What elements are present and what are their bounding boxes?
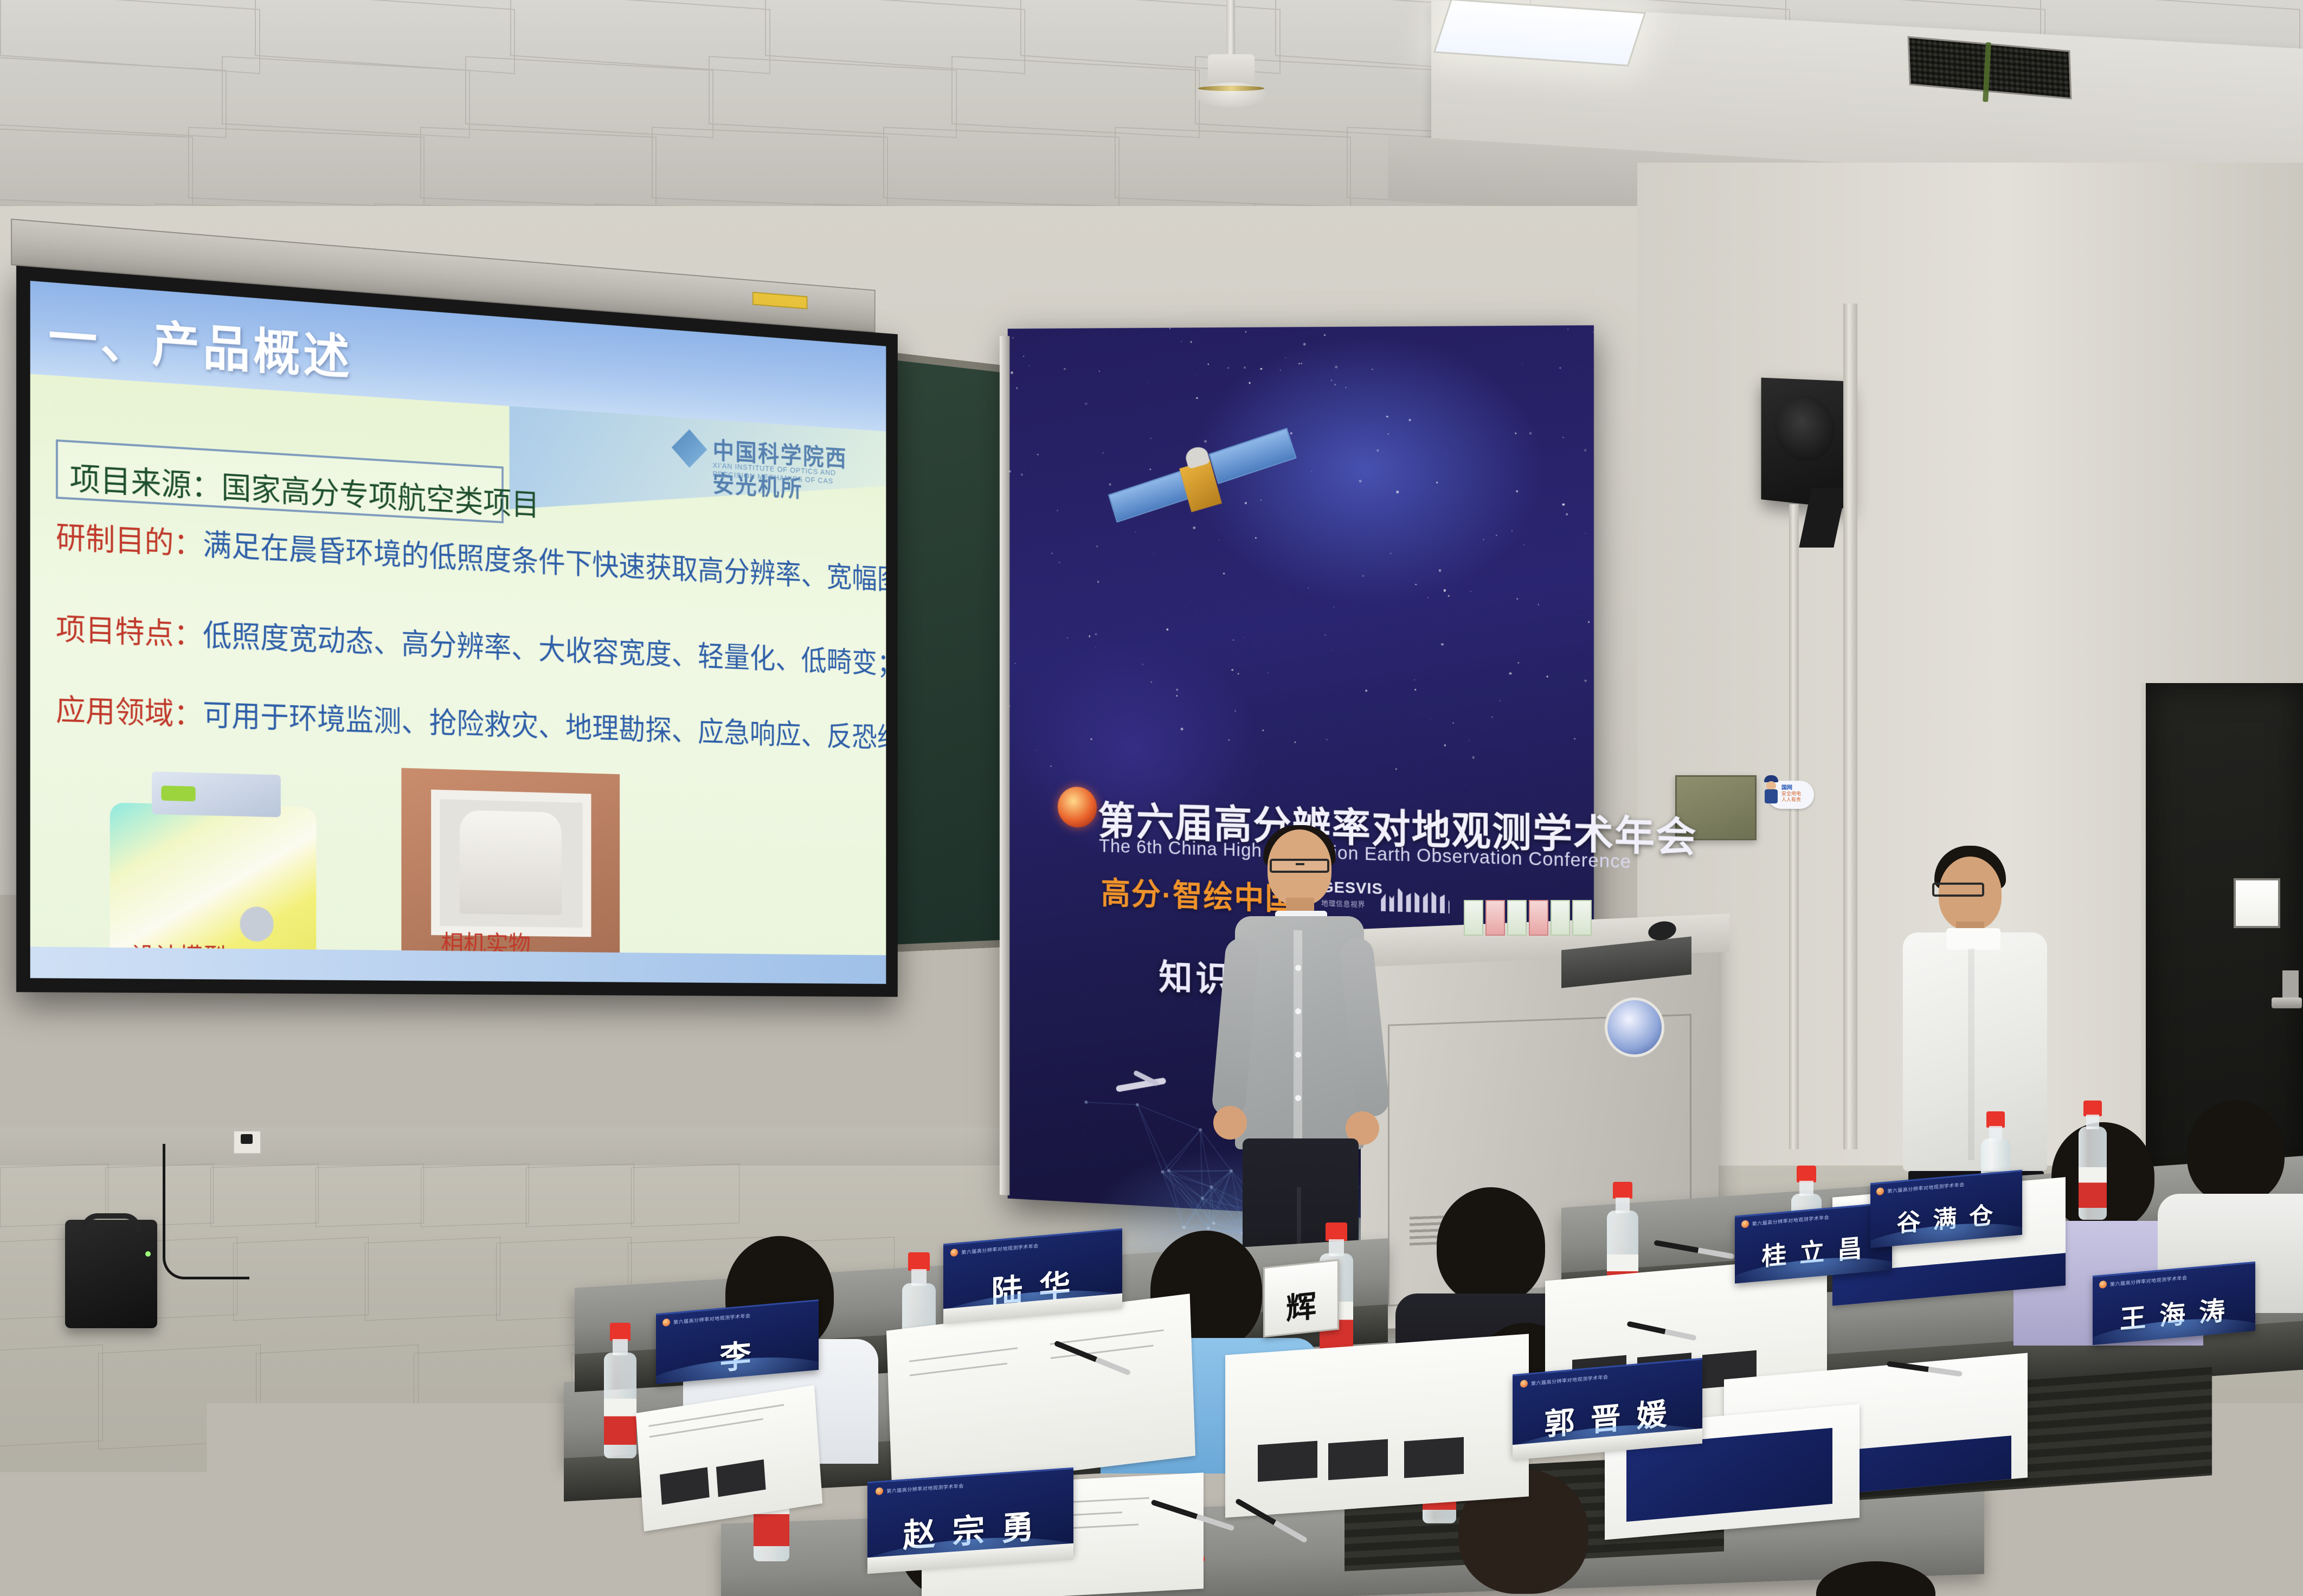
floor-tile — [421, 1164, 529, 1227]
carton — [1507, 900, 1527, 936]
name-placard: 第六届高分辨率对地观测学术年会 桂 立 昌 — [1735, 1202, 1892, 1283]
ceiling-tile — [883, 127, 1120, 208]
star — [1057, 510, 1058, 511]
star — [1195, 374, 1195, 375]
water-bottle — [2076, 1101, 2109, 1220]
podium-emblem-icon — [1605, 998, 1664, 1057]
star — [1324, 634, 1326, 636]
source-label: 项目来源： — [69, 461, 221, 505]
paper-name-card: 辉 — [1263, 1259, 1339, 1338]
star — [1245, 331, 1247, 333]
emblem-icon — [1741, 1220, 1749, 1228]
star — [1397, 491, 1399, 493]
star — [1362, 575, 1365, 577]
star — [1359, 480, 1362, 482]
star — [1559, 367, 1561, 369]
placard-header-text: 第六届高分辨率对地观测学术年会 — [1531, 1373, 1609, 1387]
star — [1588, 621, 1590, 623]
star — [1142, 664, 1143, 665]
bullet-2-label: 项目特点： — [56, 612, 203, 652]
bottle-label — [604, 1399, 636, 1445]
star — [1574, 738, 1575, 739]
power-cable — [163, 1144, 249, 1279]
star — [1050, 765, 1052, 767]
placard-header-text: 第六届高分辨率对地观测学术年会 — [2110, 1273, 2188, 1287]
star — [1465, 784, 1466, 785]
floor-tile — [233, 1237, 369, 1321]
floor-tile — [279, 1487, 468, 1596]
ceiling-tile — [420, 127, 657, 208]
bullet-1-label: 研制目的： — [56, 520, 203, 561]
star — [1413, 679, 1415, 681]
shirt-button — [1295, 1095, 1301, 1101]
skyline-icon — [1381, 882, 1449, 913]
star — [1386, 416, 1388, 417]
star — [1308, 587, 1309, 588]
suit-icon — [1765, 789, 1778, 803]
water-bottle — [602, 1323, 639, 1458]
star — [1311, 471, 1312, 472]
fan-motor — [1208, 54, 1255, 87]
star — [1184, 607, 1185, 607]
bullet-3-label: 应用领域： — [56, 693, 203, 731]
power-led-icon — [145, 1251, 151, 1257]
star — [1517, 662, 1519, 664]
attendee-head — [1816, 1561, 1935, 1596]
star — [1562, 437, 1564, 438]
star — [1095, 647, 1096, 647]
projection-screen: 一、产品概述 中国科学院西安光机所 XI'AN INSTITUTE OF OPT… — [16, 266, 898, 1016]
star — [1064, 368, 1065, 370]
floor-tile — [316, 1164, 424, 1227]
ceiling-tile — [951, 56, 1200, 138]
ceiling-fan-icon — [1182, 0, 1279, 114]
star — [1567, 329, 1568, 330]
star — [1249, 382, 1251, 384]
camera-frame — [431, 789, 591, 937]
star — [1211, 432, 1211, 433]
star — [1469, 741, 1469, 742]
star — [1223, 573, 1225, 575]
presenter-hand-left — [1213, 1106, 1247, 1140]
ceiling-tile — [709, 56, 957, 138]
star — [1390, 552, 1392, 554]
star — [1335, 366, 1337, 368]
star — [1233, 639, 1234, 640]
star — [1430, 719, 1431, 720]
star — [1585, 680, 1587, 682]
star — [1150, 681, 1152, 683]
star — [1439, 569, 1441, 571]
star — [1415, 584, 1416, 585]
star — [1238, 673, 1239, 674]
glasses-icon — [1932, 883, 1984, 897]
bottle-cap — [1797, 1166, 1816, 1182]
star — [1444, 744, 1445, 746]
plug-icon — [241, 1134, 253, 1144]
star — [1228, 739, 1230, 741]
floor-tile — [98, 1344, 261, 1450]
name-placard: 第六届高分辨率对地观测学术年会 谷 满 仓 — [1870, 1170, 2022, 1248]
ceiling-tile — [222, 56, 470, 138]
star — [1167, 628, 1169, 630]
star — [1103, 453, 1103, 454]
star — [1436, 482, 1438, 484]
star — [1324, 334, 1326, 336]
star — [1326, 739, 1328, 741]
emblem-icon — [1520, 1380, 1528, 1388]
star — [1395, 768, 1397, 770]
carton — [1551, 900, 1570, 936]
star — [1303, 343, 1306, 346]
star — [1268, 672, 1268, 673]
banner-starfield — [1008, 325, 1594, 813]
star — [1427, 597, 1428, 598]
floor-tile — [256, 1344, 419, 1450]
star — [1009, 470, 1011, 473]
bottle-cap — [1613, 1182, 1633, 1199]
name-placard: 第六届高分辨率对地观测学术年会 王 海 涛 — [2093, 1262, 2255, 1345]
star — [1244, 366, 1246, 369]
handout-paper — [1225, 1334, 1529, 1517]
star — [1509, 672, 1512, 675]
glasses-bridge — [1296, 863, 1304, 865]
slide-figure-camera-photo — [401, 768, 620, 953]
drink-cartons — [1464, 900, 1605, 938]
star — [1227, 367, 1229, 369]
star — [1453, 723, 1454, 724]
star — [1285, 357, 1286, 358]
logo-mark-icon — [672, 428, 707, 469]
star — [1472, 756, 1475, 759]
star — [1515, 432, 1517, 434]
star — [1584, 449, 1587, 452]
presentation-slide: 一、产品概述 中国科学院西安光机所 XI'AN INSTITUTE OF OPT… — [30, 281, 886, 984]
solar-panel-right — [1208, 428, 1296, 484]
wall-pipe — [1843, 304, 1857, 1149]
placard-header-text: 第六届高分辨率对地观测学术年会 — [673, 1311, 751, 1325]
speaker-cone — [1774, 394, 1835, 464]
star — [1232, 669, 1233, 671]
attendee-head — [1437, 1187, 1545, 1304]
bottle-label — [2079, 1167, 2107, 1208]
sticker-line-2: 人人有责 — [1781, 796, 1801, 803]
safety-sticker: 国网 安全用电 人人有责 — [1762, 775, 1814, 813]
star — [1059, 562, 1060, 563]
screen-frame: 一、产品概述 中国科学院西安光机所 XI'AN INSTITUTE OF OPT… — [16, 266, 898, 997]
ceiling-tile — [652, 127, 888, 208]
star — [1529, 432, 1532, 435]
floor-tile — [95, 1487, 285, 1596]
fan-rod — [1226, 0, 1235, 60]
star — [1262, 763, 1263, 763]
star — [1099, 371, 1099, 371]
floor-tile — [526, 1164, 634, 1227]
fan-trim — [1198, 86, 1264, 91]
star — [1196, 397, 1198, 399]
placard-header-text: 第六届高分辨率对地观测学术年会 — [961, 1242, 1039, 1256]
shirt-button — [1295, 1008, 1301, 1014]
star — [1334, 383, 1336, 385]
paper-name-card-text: 辉 — [1265, 1279, 1337, 1331]
bottle-cap — [1986, 1111, 2005, 1128]
shirt-placket — [1294, 930, 1302, 1142]
floor-tile — [631, 1164, 739, 1227]
star — [1096, 546, 1098, 548]
emblem-icon — [2099, 1280, 2107, 1288]
star — [1483, 539, 1484, 540]
star — [1147, 383, 1148, 384]
star — [1448, 595, 1450, 597]
star — [1585, 533, 1586, 534]
star — [1089, 395, 1090, 395]
star — [1037, 454, 1039, 455]
star — [1016, 387, 1018, 389]
conference-room-photo: 国网 安全用电 人人有责 一、产品概述 中国科学院西安光机所 — [0, 0, 2303, 1596]
star — [1522, 364, 1522, 365]
emblem-icon — [662, 1318, 670, 1326]
carton — [1529, 900, 1548, 936]
star — [1260, 368, 1262, 370]
star — [1334, 607, 1335, 608]
star — [1176, 689, 1178, 691]
name-placard: 第六届高分辨率对地观测学术年会 李 — [656, 1299, 819, 1384]
satellite-icon — [1110, 436, 1295, 558]
star — [1176, 695, 1178, 697]
sticker-figure-icon — [1762, 775, 1780, 808]
seated-attendee — [1805, 1561, 1957, 1596]
star — [1409, 419, 1411, 421]
emblem-icon — [876, 1488, 883, 1496]
floor-tile — [463, 1487, 653, 1596]
star — [1516, 490, 1519, 492]
star — [1128, 689, 1129, 690]
model-body — [110, 802, 317, 955]
bottle-cap — [610, 1323, 631, 1341]
floor-tile — [0, 1487, 100, 1596]
ceiling-tile — [0, 127, 193, 208]
attendee-shirt — [1903, 932, 2047, 1171]
attendee-head — [2187, 1101, 2285, 1204]
star — [1095, 633, 1097, 635]
star — [1181, 728, 1183, 731]
star — [1234, 710, 1236, 712]
bottle-cap — [908, 1252, 929, 1271]
ceiling-tile — [465, 56, 713, 138]
star — [1089, 635, 1090, 637]
slide-figure-design-model — [110, 770, 332, 955]
conference-emblem-icon — [1058, 786, 1097, 828]
model-lens-icon — [240, 906, 273, 942]
placard-header-text: 第六届高分辨率对地观测学术年会 — [1887, 1181, 1965, 1194]
placard-header-text: 第六届高分辨率对地观测学术年会 — [886, 1482, 964, 1495]
solar-panel-left — [1108, 471, 1189, 523]
star — [1523, 544, 1524, 545]
carton — [1464, 900, 1483, 936]
star — [1029, 365, 1030, 366]
star — [1011, 372, 1013, 375]
star — [1012, 337, 1014, 338]
star — [1500, 700, 1501, 701]
star — [1496, 535, 1497, 536]
star — [1262, 730, 1264, 731]
star — [1023, 356, 1024, 357]
star — [1372, 369, 1373, 370]
ceiling-tile — [1115, 127, 1351, 208]
star — [1441, 643, 1443, 645]
star — [1021, 474, 1023, 475]
ceiling-tile — [188, 127, 424, 208]
star — [1097, 581, 1099, 583]
star — [1067, 638, 1068, 639]
floor-tile — [0, 1344, 103, 1450]
star — [1207, 364, 1208, 365]
star — [1345, 387, 1346, 388]
star — [1388, 434, 1389, 435]
floor-tile — [365, 1237, 500, 1321]
star — [1091, 738, 1092, 740]
floor-amplifier — [65, 1220, 157, 1328]
placard-header-text: 第六届高分辨率对地观测学术年会 — [1752, 1214, 1830, 1227]
star — [1015, 663, 1015, 664]
star — [1301, 363, 1302, 364]
ceiling-tile — [0, 56, 227, 138]
star — [1444, 589, 1446, 591]
star — [1562, 503, 1565, 506]
star — [1190, 341, 1192, 343]
star — [1566, 513, 1568, 516]
star — [1377, 449, 1379, 452]
door-lock-icon — [2282, 970, 2299, 999]
star — [1290, 432, 1292, 434]
door-handle-icon[interactable] — [2272, 998, 2302, 1008]
star — [1414, 689, 1416, 691]
star — [1365, 690, 1368, 692]
door-window — [2234, 878, 2280, 928]
bottle-cap — [2083, 1101, 2102, 1116]
star — [1244, 638, 1244, 638]
emblem-icon — [1876, 1187, 1884, 1195]
star — [1280, 369, 1281, 370]
star — [1051, 552, 1052, 555]
star — [1538, 604, 1539, 605]
carton — [1572, 900, 1592, 936]
star — [1330, 379, 1332, 381]
bottle-cap — [1326, 1222, 1347, 1241]
institute-logo: 中国科学院西安光机所 XI'AN INSTITUTE OF OPTICS AND… — [672, 426, 855, 493]
star — [1181, 341, 1182, 342]
star — [1581, 615, 1581, 616]
shirt-placket — [1968, 949, 1974, 1160]
star — [1470, 591, 1471, 592]
star — [1491, 716, 1493, 718]
glasses-icon — [1270, 859, 1329, 873]
amplifier-handle — [81, 1213, 141, 1232]
star — [1169, 328, 1170, 330]
star — [1009, 706, 1011, 707]
star — [1511, 530, 1513, 532]
wall-pipe — [1789, 504, 1799, 1149]
shirt-button — [1295, 1052, 1301, 1058]
model-green-part — [161, 786, 195, 801]
star — [1085, 402, 1087, 404]
camera-unit — [460, 810, 562, 915]
carton — [1485, 900, 1505, 936]
star — [1516, 598, 1518, 600]
shirt-button — [1295, 965, 1301, 971]
star — [1036, 750, 1037, 751]
attendee-collar — [1946, 928, 2000, 950]
star — [1333, 650, 1333, 651]
star — [1547, 676, 1548, 678]
star — [1294, 741, 1296, 743]
floor-tile — [414, 1344, 576, 1450]
emblem-icon — [950, 1249, 958, 1257]
star — [1298, 363, 1300, 364]
